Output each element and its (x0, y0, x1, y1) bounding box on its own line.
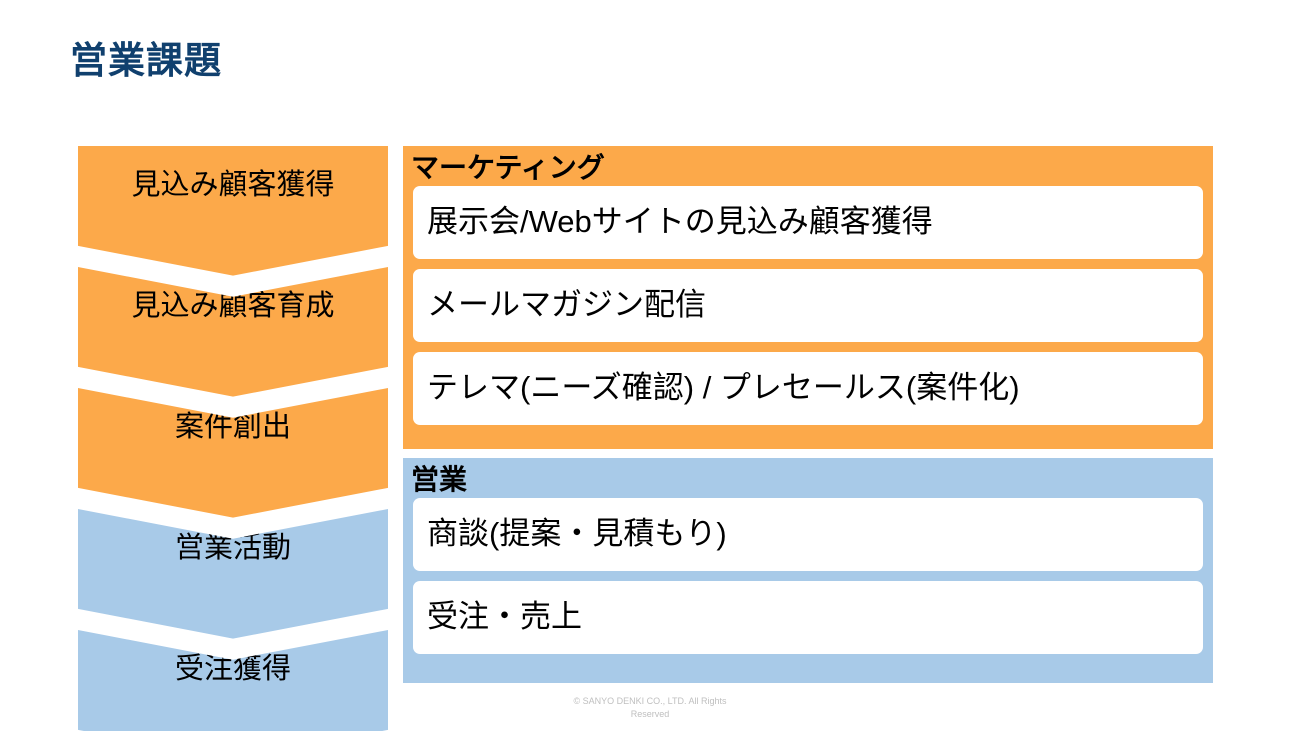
list-item-label: 受注・売上 (427, 600, 582, 634)
funnel-stage-3[interactable]: 案件創出 (78, 388, 388, 523)
list-item-label: 商談(提案・見積もり) (427, 517, 727, 551)
funnel-stage-label: 受注獲得 (175, 654, 291, 686)
list-item[interactable]: 展示会/Webサイトの見込み顧客獲得 (413, 186, 1203, 259)
funnel-stage-5[interactable]: 受注獲得 (78, 630, 388, 731)
list-item-label: テレマ(ニーズ確認) / プレセールス(案件化) (427, 371, 1020, 405)
funnel-stage-label: 営業活動 (175, 533, 291, 565)
funnel-stage-label: 見込み顧客育成 (131, 291, 334, 323)
funnel-stage-label: 案件創出 (175, 412, 291, 444)
funnel-stage-2[interactable]: 見込み顧客育成 (78, 267, 388, 402)
list-item[interactable]: 商談(提案・見積もり) (413, 498, 1203, 571)
list-item-label: 展示会/Webサイトの見込み顧客獲得 (427, 205, 933, 239)
page-title: 営業課題 (70, 30, 222, 84)
funnel-stage-1[interactable]: 見込み顧客獲得 (78, 146, 388, 281)
panel-marketing: マーケティング 展示会/Webサイトの見込み顧客獲得 メールマガジン配信 テレマ… (403, 146, 1213, 449)
list-item[interactable]: 受注・売上 (413, 581, 1203, 654)
list-item-label: メールマガジン配信 (427, 288, 706, 322)
footer-line-1: © SANYO DENKI CO., LTD. All Rights (574, 696, 727, 706)
list-item[interactable]: テレマ(ニーズ確認) / プレセールス(案件化) (413, 352, 1203, 425)
funnel-stage-4[interactable]: 営業活動 (78, 509, 388, 644)
list-item[interactable]: メールマガジン配信 (413, 269, 1203, 342)
panel-heading-sales: 営業 (403, 458, 1213, 498)
panel-sales: 営業 商談(提案・見積もり) 受注・売上 (403, 458, 1213, 683)
slide-canvas: 営業課題 見込み顧客獲得 見込み顧客育成 案件創出 営業活動 受注獲得 マーケテ… (0, 0, 1300, 731)
funnel-chevron-column: 見込み顧客獲得 見込み顧客育成 案件創出 営業活動 受注獲得 (78, 146, 388, 688)
panel-heading-marketing: マーケティング (403, 146, 1213, 186)
funnel-stage-label: 見込み顧客獲得 (131, 170, 334, 202)
